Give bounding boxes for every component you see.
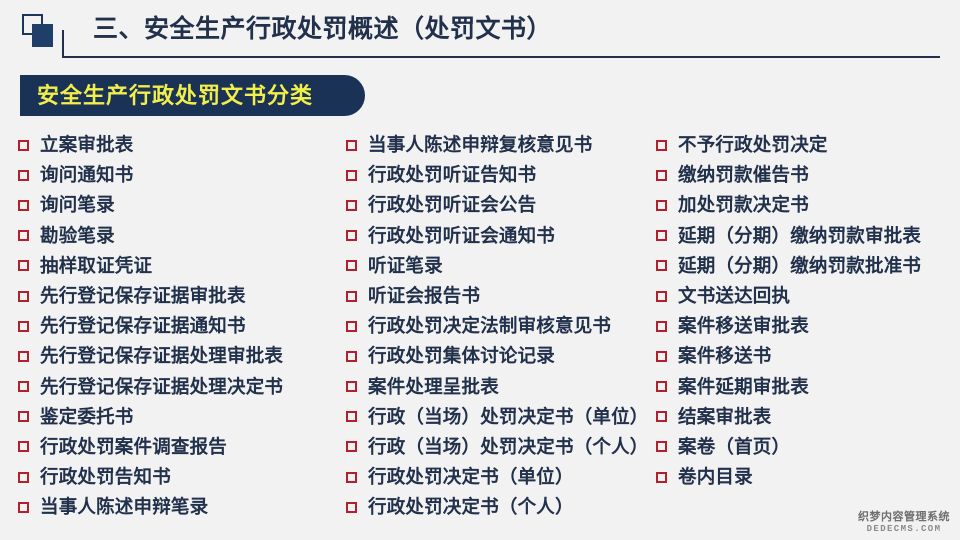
document-list-item-label: 延期（分期）缴纳罚款批准书: [678, 251, 921, 281]
document-list-item[interactable]: 行政处罚听证会公告: [346, 190, 649, 220]
document-list-item-label: 案件移送审批表: [678, 311, 809, 341]
header-divider: [62, 56, 940, 58]
page-title: 三、安全生产行政处罚概述（处罚文书）: [93, 11, 552, 47]
document-list-item-label: 行政（当场）处罚决定书（单位）: [368, 402, 649, 432]
document-list-item-label: 卷内目录: [678, 462, 753, 492]
document-list-item[interactable]: 听证会报告书: [346, 281, 649, 311]
document-list-item[interactable]: 不予行政处罚决定: [656, 130, 921, 160]
section-banner-label: 安全生产行政处罚文书分类: [37, 75, 313, 116]
document-list-item[interactable]: 加处罚款决定书: [656, 190, 921, 220]
document-list-item-label: 行政处罚告知书: [40, 462, 171, 492]
document-list-item-label: 缴纳罚款催告书: [678, 160, 809, 190]
square-bullet-icon: [346, 200, 357, 211]
document-list-item[interactable]: 抽样取证凭证: [18, 251, 283, 281]
square-bullet-icon: [656, 200, 667, 211]
document-list-item-label: 立案审批表: [40, 130, 134, 160]
square-bullet-icon: [346, 230, 357, 241]
square-bullet-icon: [346, 502, 357, 513]
square-bullet-icon: [18, 230, 29, 241]
document-list-item-label: 加处罚款决定书: [678, 190, 809, 220]
square-bullet-icon: [18, 502, 29, 513]
document-list-item-label: 文书送达回执: [678, 281, 790, 311]
document-list-item[interactable]: 先行登记保存证据处理审批表: [18, 341, 283, 371]
document-list-item-label: 听证会报告书: [368, 281, 480, 311]
header-rule-cap: [62, 30, 64, 58]
document-list-item-label: 鉴定委托书: [40, 402, 134, 432]
document-list-item-label: 听证笔录: [368, 251, 443, 281]
document-list-item[interactable]: 当事人陈述申辩复核意见书: [346, 130, 649, 160]
document-list-item[interactable]: 行政处罚案件调查报告: [18, 432, 283, 462]
document-list-columns: 立案审批表询问通知书询问笔录勘验笔录抽样取证凭证先行登记保存证据审批表先行登记保…: [0, 130, 960, 530]
document-list-item-label: 案件处理呈批表: [368, 372, 499, 402]
square-bullet-icon: [656, 381, 667, 392]
document-list-item[interactable]: 行政处罚告知书: [18, 462, 283, 492]
document-list-item-label: 行政处罚听证告知书: [368, 160, 536, 190]
square-bullet-icon: [18, 441, 29, 452]
document-list-item-label: 当事人陈述申辩笔录: [40, 492, 208, 522]
section-banner: 安全生产行政处罚文书分类: [20, 75, 365, 116]
square-bullet-icon: [18, 411, 29, 422]
document-list-item-label: 先行登记保存证据通知书: [40, 311, 246, 341]
document-list-item[interactable]: 先行登记保存证据通知书: [18, 311, 283, 341]
document-list-item[interactable]: 缴纳罚款催告书: [656, 160, 921, 190]
document-list-item-label: 先行登记保存证据审批表: [40, 281, 246, 311]
square-bullet-icon: [656, 472, 667, 483]
document-list-item[interactable]: 鉴定委托书: [18, 402, 283, 432]
document-list-item-label: 结案审批表: [678, 402, 772, 432]
document-column-3: 不予行政处罚决定缴纳罚款催告书加处罚款决定书延期（分期）缴纳罚款审批表延期（分期…: [656, 130, 921, 492]
document-list-item[interactable]: 案卷（首页）: [656, 432, 921, 462]
document-list-item-label: 勘验笔录: [40, 221, 115, 251]
document-list-item-label: 询问通知书: [40, 160, 134, 190]
document-list-item[interactable]: 先行登记保存证据处理决定书: [18, 372, 283, 402]
square-filled-shape: [32, 24, 53, 47]
document-list-item[interactable]: 听证笔录: [346, 251, 649, 281]
document-list-item-label: 不予行政处罚决定: [678, 130, 828, 160]
square-bullet-icon: [656, 291, 667, 302]
document-list-item[interactable]: 行政处罚决定书（单位）: [346, 462, 649, 492]
document-list-item[interactable]: 案件处理呈批表: [346, 372, 649, 402]
square-bullet-icon: [656, 351, 667, 362]
document-list-item[interactable]: 勘验笔录: [18, 221, 283, 251]
document-list-item-label: 行政处罚决定书（个人）: [368, 492, 574, 522]
square-bullet-icon: [18, 321, 29, 332]
square-bullet-icon: [656, 230, 667, 241]
document-list-item[interactable]: 案件延期审批表: [656, 372, 921, 402]
document-list-item[interactable]: 行政处罚决定法制审核意见书: [346, 311, 649, 341]
square-bullet-icon: [346, 441, 357, 452]
document-list-item[interactable]: 询问笔录: [18, 190, 283, 220]
document-list-item[interactable]: 文书送达回执: [656, 281, 921, 311]
square-bullet-icon: [18, 140, 29, 151]
square-bullet-icon: [346, 472, 357, 483]
document-list-item-label: 抽样取证凭证: [40, 251, 152, 281]
document-list-item[interactable]: 卷内目录: [656, 462, 921, 492]
two-squares-icon: [22, 14, 56, 48]
document-list-item-label: 先行登记保存证据处理审批表: [40, 341, 283, 371]
document-list-item-label: 行政（当场）处罚决定书（个人）: [368, 432, 649, 462]
document-list-item-label: 行政处罚听证会通知书: [368, 221, 555, 251]
document-list-item[interactable]: 案件移送书: [656, 341, 921, 371]
document-list-item[interactable]: 行政处罚听证告知书: [346, 160, 649, 190]
square-bullet-icon: [18, 381, 29, 392]
square-bullet-icon: [346, 140, 357, 151]
square-bullet-icon: [656, 321, 667, 332]
watermark: 织梦内容管理系统 DEDECMS.COM: [858, 511, 950, 534]
square-bullet-icon: [18, 351, 29, 362]
document-list-item-label: 案卷（首页）: [678, 432, 790, 462]
document-list-item[interactable]: 行政处罚集体讨论记录: [346, 341, 649, 371]
document-list-item-label: 当事人陈述申辩复核意见书: [368, 130, 592, 160]
square-bullet-icon: [346, 321, 357, 332]
document-list-item[interactable]: 立案审批表: [18, 130, 283, 160]
square-bullet-icon: [346, 170, 357, 181]
square-bullet-icon: [346, 351, 357, 362]
document-list-item-label: 行政处罚决定法制审核意见书: [368, 311, 611, 341]
document-list-item[interactable]: 延期（分期）缴纳罚款批准书: [656, 251, 921, 281]
document-list-item-label: 行政处罚案件调查报告: [40, 432, 227, 462]
square-bullet-icon: [656, 411, 667, 422]
document-list-item-label: 行政处罚决定书（单位）: [368, 462, 574, 492]
document-list-item[interactable]: 当事人陈述申辩笔录: [18, 492, 283, 522]
square-bullet-icon: [346, 381, 357, 392]
document-list-item[interactable]: 询问通知书: [18, 160, 283, 190]
square-bullet-icon: [18, 170, 29, 181]
square-bullet-icon: [18, 472, 29, 483]
document-list-item[interactable]: 案件移送审批表: [656, 311, 921, 341]
document-list-item[interactable]: 结案审批表: [656, 402, 921, 432]
square-bullet-icon: [346, 291, 357, 302]
document-list-item-label: 行政处罚集体讨论记录: [368, 341, 555, 371]
document-list-item-label: 先行登记保存证据处理决定书: [40, 372, 283, 402]
document-column-2: 当事人陈述申辩复核意见书行政处罚听证告知书行政处罚听证会公告行政处罚听证会通知书…: [346, 130, 649, 522]
document-list-item-label: 案件延期审批表: [678, 372, 809, 402]
document-list-item-label: 行政处罚听证会公告: [368, 190, 536, 220]
square-bullet-icon: [346, 260, 357, 271]
square-bullet-icon: [18, 200, 29, 211]
document-list-item[interactable]: 行政处罚决定书（个人）: [346, 492, 649, 522]
square-bullet-icon: [656, 441, 667, 452]
slide-root: 三、安全生产行政处罚概述（处罚文书） 安全生产行政处罚文书分类 立案审批表询问通…: [0, 0, 960, 540]
document-list-item-label: 询问笔录: [40, 190, 115, 220]
document-list-item[interactable]: 行政（当场）处罚决定书（单位）: [346, 402, 649, 432]
square-bullet-icon: [346, 411, 357, 422]
square-bullet-icon: [18, 260, 29, 271]
square-bullet-icon: [656, 170, 667, 181]
document-list-item[interactable]: 延期（分期）缴纳罚款审批表: [656, 221, 921, 251]
document-list-item[interactable]: 行政处罚听证会通知书: [346, 221, 649, 251]
document-column-1: 立案审批表询问通知书询问笔录勘验笔录抽样取证凭证先行登记保存证据审批表先行登记保…: [18, 130, 283, 522]
square-bullet-icon: [656, 260, 667, 271]
document-list-item[interactable]: 先行登记保存证据审批表: [18, 281, 283, 311]
square-bullet-icon: [656, 140, 667, 151]
watermark-en: DEDECMS.COM: [858, 524, 950, 534]
watermark-cn: 织梦内容管理系统: [858, 511, 950, 524]
slide-header: 三、安全生产行政处罚概述（处罚文书）: [0, 0, 960, 62]
document-list-item[interactable]: 行政（当场）处罚决定书（个人）: [346, 432, 649, 462]
document-list-item-label: 案件移送书: [678, 341, 772, 371]
square-bullet-icon: [18, 291, 29, 302]
document-list-item-label: 延期（分期）缴纳罚款审批表: [678, 221, 921, 251]
